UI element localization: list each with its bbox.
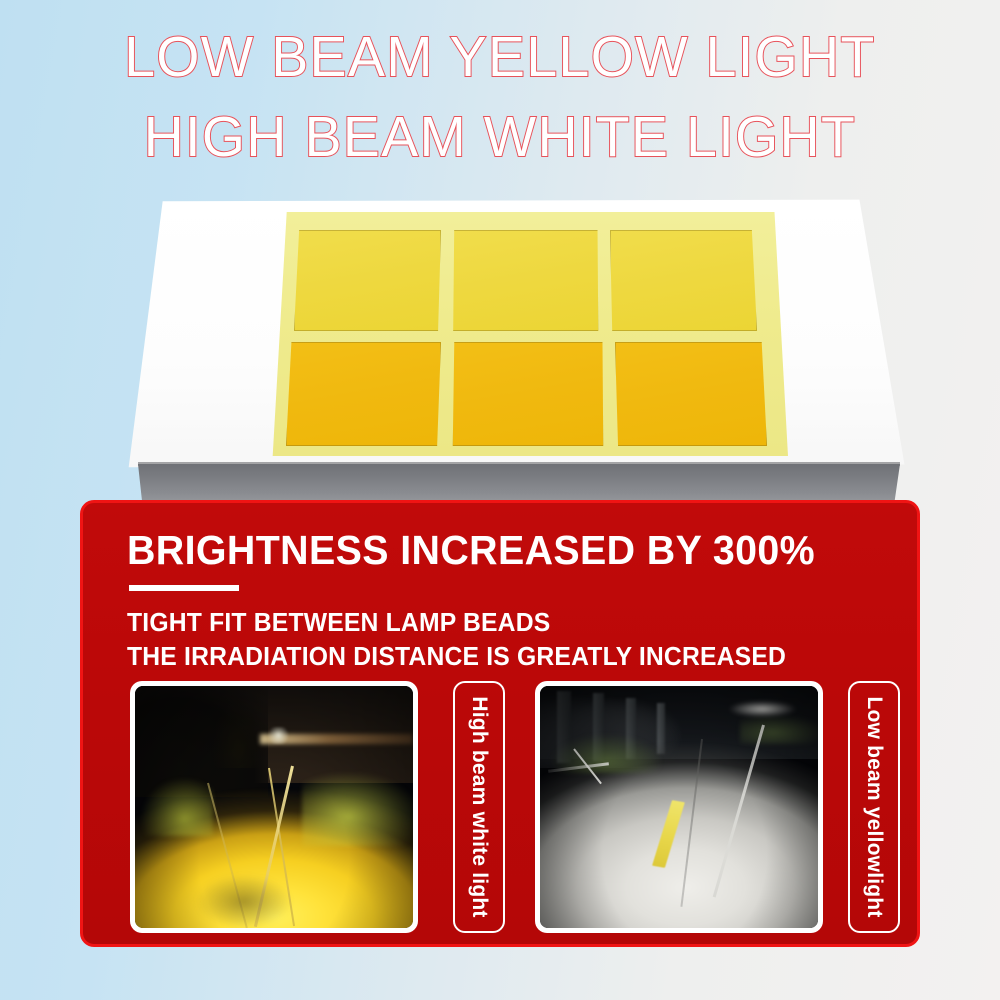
photo-white-beam [535, 681, 823, 933]
headline: LOW BEAM YELLOW LIGHT HIGH BEAM WHITE LI… [0, 24, 1000, 170]
advertisement-banner: LOW BEAM YELLOW LIGHT HIGH BEAM WHITE LI… [0, 0, 1000, 1000]
led-phosphor-frame [268, 212, 788, 456]
photo-yellow-beam-image [135, 686, 413, 928]
label-high-beam-text: High beam white light [467, 696, 491, 917]
label-low-beam-yellow-light: Low beam yellowlight [848, 681, 900, 933]
headline-line-2: HIGH BEAM WHITE LIGHT [15, 104, 985, 170]
led-chip-top-2 [452, 230, 599, 331]
led-chip-bottom-1 [286, 342, 441, 446]
photo-yellow-beam [130, 681, 418, 933]
label-low-beam-text: Low beam yellowlight [862, 696, 886, 917]
label-high-beam-white-light: High beam white light [453, 681, 505, 933]
banner-subtitle-1: TIGHT FIT BETWEEN LAMP BEADS [127, 607, 550, 638]
banner-subtitle-2: THE IRRADIATION DISTANCE IS GREATLY INCR… [127, 641, 786, 672]
title-divider [129, 585, 239, 591]
banner-title: BRIGHTNESS INCREASED BY 300% [127, 527, 815, 574]
photo-vignette [540, 686, 818, 928]
photo-white-beam-image [540, 686, 818, 928]
led-chip-top-1 [294, 230, 441, 331]
photo-vignette [135, 686, 413, 928]
headline-line-1: LOW BEAM YELLOW LIGHT [15, 24, 985, 90]
feature-banner: BRIGHTNESS INCREASED BY 300% TIGHT FIT B… [80, 500, 920, 947]
led-chip-top-3 [610, 230, 757, 331]
led-chip-bottom-2 [452, 342, 604, 446]
led-chip-bottom-3 [615, 342, 767, 446]
led-module-image [120, 198, 910, 508]
